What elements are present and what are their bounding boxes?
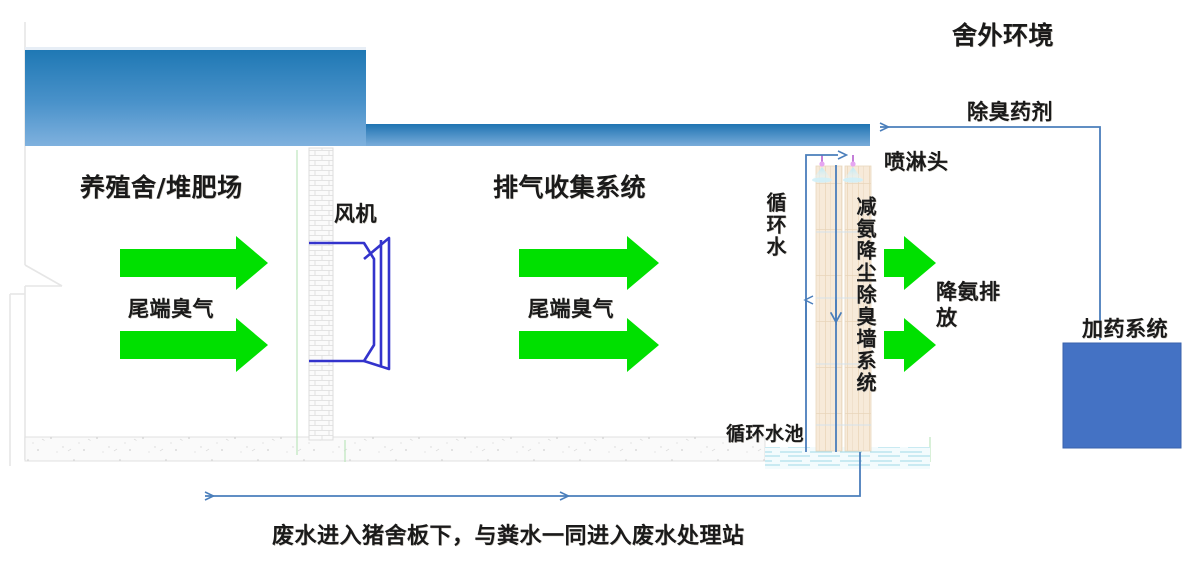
barn-roof-extension — [366, 124, 870, 146]
label-outside-environment: 舍外环境 — [952, 16, 1054, 52]
ground-slab — [25, 437, 765, 461]
right-arrow-icon — [884, 318, 936, 372]
caption-wastewater: 废水进入猪舍板下，与粪水一同进入废水处理站 — [272, 518, 745, 550]
diagram-canvas: 舍外环境 养殖舍/堆肥场 风机 排气收集系统 尾端臭气 尾端臭气 循环水 减氨降… — [0, 0, 1200, 565]
scene-svg — [0, 0, 1200, 565]
label-wall-system: 减氨降尘除臭墙系统 — [851, 196, 880, 394]
label-dosing-system: 加药系统 — [1082, 313, 1168, 343]
label-odor-gas-left: 尾端臭气 — [128, 293, 214, 323]
label-circulating-pool: 循环水池 — [726, 419, 804, 446]
right-arrow-icon — [519, 318, 659, 372]
label-ammonia-reduced-emission: 降氨排放 — [936, 280, 1002, 331]
dosing-system-tank — [1063, 343, 1181, 448]
barn-roof-main — [25, 50, 366, 146]
label-exhaust-collection-system: 排气收集系统 — [493, 168, 646, 204]
label-spray-head: 喷淋头 — [884, 146, 949, 176]
label-circulating-water: 循环水 — [761, 192, 790, 258]
partition-wall — [309, 148, 333, 440]
right-arrow-icon — [884, 236, 936, 290]
label-odor-gas-mid: 尾端臭气 — [528, 293, 614, 323]
right-arrow-icon — [519, 236, 659, 290]
right-arrow-icon — [120, 318, 268, 372]
label-barn: 养殖舍/堆肥场 — [80, 168, 243, 204]
right-arrow-icon — [120, 236, 268, 290]
label-fan: 风机 — [334, 198, 377, 228]
label-deodorant-agent: 除臭药剂 — [967, 96, 1053, 126]
